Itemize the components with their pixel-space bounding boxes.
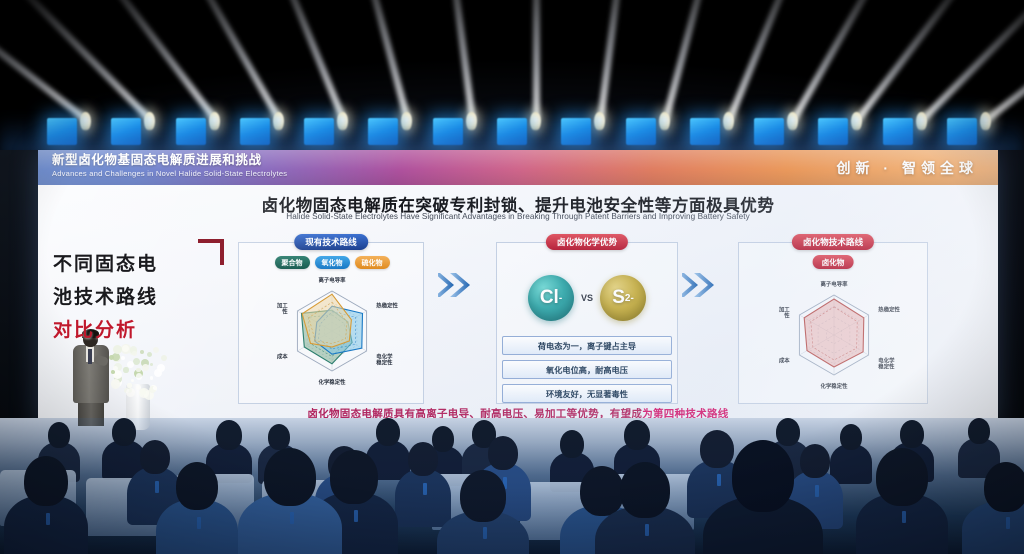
corner-bracket-decoration bbox=[198, 239, 224, 265]
audience-head bbox=[560, 430, 584, 458]
lanyard-badge bbox=[290, 512, 294, 524]
light-beam bbox=[791, 0, 896, 122]
flower bbox=[150, 363, 153, 366]
light-beam bbox=[0, 0, 89, 123]
lanyard-badge bbox=[423, 483, 427, 495]
flower bbox=[123, 367, 128, 372]
radar-chart-existing: 离子电导率热稳定性电化学稳定性化学稳定性成本加工性 bbox=[239, 271, 423, 403]
radar-axis-label: 成本 bbox=[277, 353, 288, 361]
lanyard-badge bbox=[902, 511, 906, 523]
wall-right bbox=[998, 150, 1024, 450]
lanyard-badge bbox=[155, 481, 159, 493]
double-chevron-right-icon-2 bbox=[682, 268, 728, 302]
flower bbox=[139, 388, 149, 398]
flower bbox=[157, 364, 165, 372]
light-beam bbox=[265, 0, 347, 121]
radar-axis-label: 加工 bbox=[778, 305, 790, 313]
flower bbox=[153, 347, 159, 353]
audience-head bbox=[620, 462, 670, 518]
radar-axis-label: 化学稳定性 bbox=[821, 382, 849, 390]
legend-item-polymer: 聚合物 bbox=[275, 256, 310, 269]
flower bbox=[113, 366, 118, 371]
flower bbox=[153, 386, 157, 390]
radar-axis-label: 电化学 bbox=[878, 357, 895, 365]
advantage-item-1: 荷电态为一，离子键占主导 bbox=[502, 336, 672, 355]
light-beam bbox=[726, 0, 808, 121]
wall-left bbox=[0, 150, 38, 450]
panel-right-title: 卤化物技术路线 bbox=[792, 234, 874, 250]
light-beam bbox=[533, 0, 540, 120]
radar-axis-label: 化学稳定性 bbox=[319, 378, 347, 386]
panel-existing-routes: 现有技术路线 聚合物 氧化物 硫化物 离子电导率热稳定性电化学稳定性化学稳定性成… bbox=[238, 242, 424, 404]
header-title-zh: 新型卤化物基固态电解质进展和挑战 bbox=[52, 153, 287, 168]
audience-head bbox=[624, 420, 650, 450]
radar-axis-label: 稳定性 bbox=[376, 359, 393, 367]
radar-chart-halide: 离子电导率热稳定性电化学稳定性化学稳定性成本加工性 bbox=[739, 277, 927, 403]
flower bbox=[121, 356, 125, 360]
audience-head bbox=[732, 440, 794, 512]
legend-item-sulfide: 硫化物 bbox=[355, 256, 390, 269]
audience-head bbox=[140, 440, 170, 474]
audience-head bbox=[488, 436, 518, 470]
flower bbox=[131, 379, 134, 382]
audience-head bbox=[112, 418, 136, 446]
light-beam bbox=[662, 0, 720, 121]
flower bbox=[136, 373, 143, 380]
lanyard-badge bbox=[717, 474, 721, 486]
double-chevron-right-icon bbox=[438, 268, 484, 302]
light-beam bbox=[177, 0, 282, 122]
flower bbox=[150, 376, 153, 379]
lanyard-badge bbox=[197, 517, 201, 529]
header-slogan: 创新 · 智领全球 bbox=[837, 158, 978, 178]
legend-item-oxide: 氧化物 bbox=[315, 256, 350, 269]
flower bbox=[111, 379, 121, 389]
ion-right-charge: 2- bbox=[625, 293, 634, 304]
overlay-line-2: 池技术路线 bbox=[53, 281, 223, 314]
speaker-legs bbox=[78, 400, 104, 426]
audience-head bbox=[408, 442, 438, 476]
radar-axis-label: 电化学 bbox=[376, 353, 393, 361]
ion-left-symbol: Cl bbox=[540, 287, 559, 309]
light-beam bbox=[92, 0, 218, 122]
header-title-en: Advances and Challenges in Novel Halide … bbox=[52, 168, 287, 179]
radar-axis-label: 离子电导率 bbox=[821, 280, 849, 288]
ion-left-charge: - bbox=[559, 293, 562, 304]
speaker-tie bbox=[88, 349, 92, 364]
light-beam bbox=[8, 0, 153, 122]
audience-head bbox=[24, 456, 68, 506]
audience-head bbox=[776, 418, 800, 446]
halide-advantages-list: 荷电态为一，离子键占主导 氧化电位高，耐高电压 环境友好，无显著毒性 bbox=[502, 336, 672, 403]
audience-head bbox=[268, 424, 290, 450]
flower bbox=[127, 383, 131, 387]
audience-head bbox=[876, 448, 928, 506]
audience-head bbox=[580, 466, 624, 516]
sulfide-ion-circle: S2- bbox=[600, 275, 646, 321]
ion-comparison: Cl- VS S2- bbox=[496, 268, 678, 328]
panel-center-title: 卤化物化学优势 bbox=[546, 234, 628, 250]
overlay-caption: 不同固态电 池技术路线 对比分析 bbox=[53, 248, 223, 347]
light-beam bbox=[443, 0, 476, 120]
radar-axis-label: 加工 bbox=[276, 301, 288, 309]
audience-head bbox=[48, 422, 70, 448]
advantage-item-2: 氧化电位高，耐高电压 bbox=[502, 360, 672, 379]
header-title-group: 新型卤化物基固态电解质进展和挑战 Advances and Challenges… bbox=[52, 153, 287, 179]
radar-axis-label: 性 bbox=[281, 307, 288, 315]
flower-arrangement bbox=[108, 344, 170, 396]
radar-series-卤化物 bbox=[804, 299, 864, 367]
light-beam bbox=[597, 0, 630, 120]
overlay-line-3: 对比分析 bbox=[53, 314, 223, 347]
ion-right-symbol: S bbox=[612, 287, 625, 309]
radar-axis-label: 热稳定性 bbox=[878, 305, 900, 313]
lanyard-badge bbox=[645, 524, 649, 536]
conference-hall-scene: 新型卤化物基固态电解质进展和挑战 Advances and Challenges… bbox=[0, 0, 1024, 554]
flower bbox=[142, 364, 149, 371]
ceiling-glow bbox=[0, 116, 1024, 152]
flower bbox=[133, 358, 140, 365]
lanyard-badge bbox=[1006, 517, 1010, 529]
flower bbox=[136, 368, 140, 372]
radar-axis-label: 热稳定性 bbox=[376, 301, 398, 309]
flower bbox=[126, 388, 135, 397]
panel-left-title: 现有技术路线 bbox=[294, 234, 368, 250]
lanyard-badge bbox=[483, 527, 487, 539]
audience-head bbox=[840, 424, 862, 450]
audience-head bbox=[700, 430, 734, 468]
flower bbox=[140, 350, 144, 354]
panel-halide-route: 卤化物技术路线 卤化物 离子电导率热稳定性电化学稳定性化学稳定性成本加工性 bbox=[738, 242, 928, 404]
light-beam bbox=[855, 0, 981, 122]
audience-head bbox=[176, 462, 218, 510]
ceiling-lighting-rig bbox=[0, 0, 1024, 152]
audience-head bbox=[460, 470, 506, 522]
audience-head bbox=[216, 420, 242, 450]
audience-head bbox=[376, 418, 400, 446]
radar-axis-label: 稳定性 bbox=[878, 363, 895, 371]
vs-label: VS bbox=[581, 293, 593, 303]
radar-axis-label: 成本 bbox=[779, 357, 790, 365]
radar-axis-label: 离子电导率 bbox=[319, 276, 347, 284]
audience-head bbox=[264, 448, 316, 506]
chloride-ion-circle: Cl- bbox=[528, 275, 574, 321]
slide-header-bar: 新型卤化物基固态电解质进展和挑战 Advances and Challenges… bbox=[38, 150, 998, 185]
audience-head bbox=[900, 420, 924, 448]
lanyard-badge bbox=[46, 513, 50, 525]
radar-legend: 聚合物 氧化物 硫化物 bbox=[239, 256, 425, 269]
flower bbox=[161, 355, 167, 361]
advantage-item-3: 环境友好，无显著毒性 bbox=[502, 384, 672, 403]
lanyard-badge bbox=[354, 510, 358, 522]
lanyard-badge bbox=[815, 485, 819, 497]
flower bbox=[132, 351, 137, 356]
audience-head bbox=[968, 418, 990, 444]
flower bbox=[147, 352, 152, 357]
light-beam bbox=[353, 0, 411, 121]
panel-right-sub-pill: 卤化物 bbox=[813, 255, 854, 269]
audience-shoulders bbox=[395, 469, 451, 527]
audience-head bbox=[800, 444, 830, 478]
audience-shoulders bbox=[830, 444, 872, 484]
audience-head bbox=[432, 426, 454, 452]
slide-title-en: Halide Solid-State Electrolytes Have Sig… bbox=[38, 212, 998, 221]
audience-head bbox=[984, 462, 1024, 512]
audience-head bbox=[330, 450, 378, 504]
radar-axis-label: 性 bbox=[783, 311, 790, 319]
